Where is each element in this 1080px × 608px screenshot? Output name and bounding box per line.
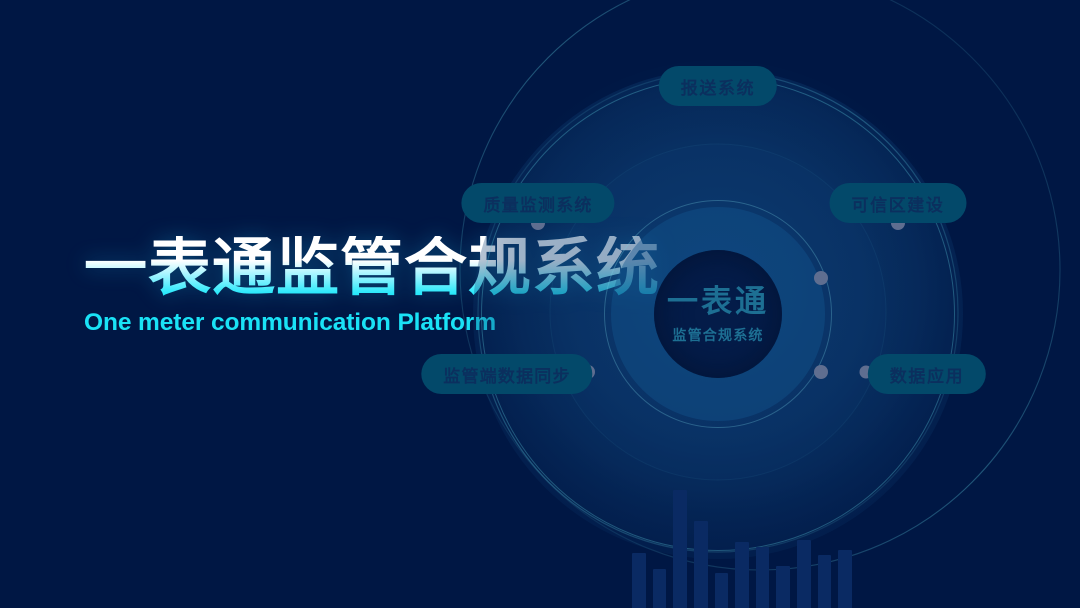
- chart-bar: [756, 547, 770, 608]
- slide-canvas: 一表通监管合规系统 One meter communication Platfo…: [0, 0, 1080, 608]
- node-pill-label: 质量监测系统: [483, 191, 592, 216]
- node-pill-label: 监管端数据同步: [443, 362, 570, 387]
- chart-bar: [715, 573, 729, 608]
- node-dot-lower-right: [814, 365, 828, 379]
- ring-core-disc: [654, 250, 782, 378]
- node-pill-baosong[interactable]: 报送系统: [659, 66, 777, 106]
- node-pill-label: 可信区建设: [852, 191, 945, 216]
- chart-bar: [838, 550, 852, 608]
- chart-bar: [653, 569, 667, 608]
- node-pill-tongbu[interactable]: 监管端数据同步: [421, 354, 592, 394]
- chart-bar: [632, 553, 646, 608]
- node-dot-right: [814, 271, 828, 285]
- node-pill-zhiliang[interactable]: 质量监测系统: [461, 183, 614, 223]
- node-pill-label: 报送系统: [681, 74, 755, 99]
- node-pill-kexinqu[interactable]: 可信区建设: [830, 183, 967, 223]
- chart-bar: [797, 540, 811, 608]
- node-pill-yingyong[interactable]: 数据应用: [868, 354, 986, 394]
- node-pill-label: 数据应用: [890, 362, 964, 387]
- chart-bar: [776, 566, 790, 608]
- chart-bar: [818, 555, 832, 608]
